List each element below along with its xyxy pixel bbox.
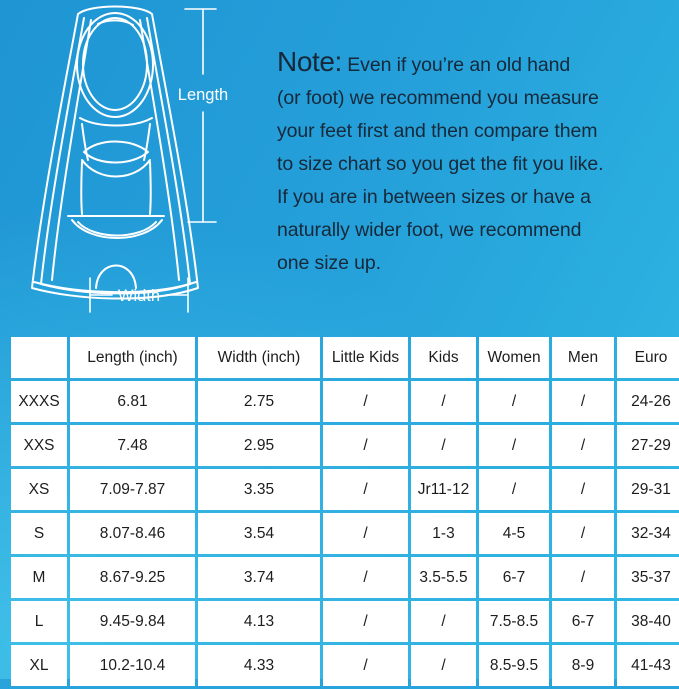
column-header-size	[11, 337, 67, 378]
note-line-6: naturally wider foot, we recommend	[277, 214, 667, 247]
fin-diagram: Length Width	[20, 0, 280, 325]
cell-value: /	[552, 425, 614, 466]
cell-value: 41-43	[617, 645, 679, 686]
cell-size-label: XL	[11, 645, 67, 686]
cell-value: 8.5-9.5	[479, 645, 549, 686]
cell-value: 27-29	[617, 425, 679, 466]
cell-size-label: L	[11, 601, 67, 642]
column-header-men: Men	[552, 337, 614, 378]
note-line-1-text: Even if you’re an old hand	[347, 54, 570, 76]
cell-size-label: M	[11, 557, 67, 598]
note-lead: Note:	[277, 46, 342, 77]
cell-value: 3.54	[198, 513, 320, 554]
note-line-3: your feet first and then compare them	[277, 115, 667, 148]
cell-value: 3.5-5.5	[411, 557, 476, 598]
cell-value: 4-5	[479, 513, 549, 554]
cell-value: /	[411, 425, 476, 466]
table-row: XXS7.482.95////27-29	[11, 425, 679, 466]
note-line-1: Note: Even if you’re an old hand	[277, 45, 667, 82]
table-row: XL10.2-10.44.33//8.5-9.58-941-43	[11, 645, 679, 686]
foot-pocket-opening	[77, 13, 153, 117]
foot-pocket-opening-inner	[83, 18, 147, 110]
column-header-women: Women	[479, 337, 549, 378]
cell-value: /	[411, 645, 476, 686]
cell-value: 3.74	[198, 557, 320, 598]
note-line-2: (or foot) we recommend you measure	[277, 82, 667, 115]
cell-value: /	[479, 425, 549, 466]
cell-value: Jr11-12	[411, 469, 476, 510]
cell-value: 6-7	[479, 557, 549, 598]
cell-value: 9.45-9.84	[70, 601, 195, 642]
fin-blade-inner	[41, 18, 190, 293]
cell-value: /	[323, 425, 408, 466]
cell-size-label: XS	[11, 469, 67, 510]
blade-bottom-edge	[34, 282, 196, 292]
cell-value: 4.13	[198, 601, 320, 642]
table-row: M8.67-9.253.74/3.5-5.56-7/35-37	[11, 557, 679, 598]
table-row: XS7.09-7.873.35/Jr11-12//29-31	[11, 469, 679, 510]
note-line-4: to size chart so you get the fit you lik…	[277, 148, 667, 181]
cell-value: /	[323, 469, 408, 510]
cell-value: /	[411, 601, 476, 642]
cell-size-label: S	[11, 513, 67, 554]
cell-value: /	[411, 381, 476, 422]
table-header-row: Length (inch)Width (inch)Little KidsKids…	[11, 337, 679, 378]
cell-value: 7.48	[70, 425, 195, 466]
cell-value: /	[323, 645, 408, 686]
cell-value: 8.67-9.25	[70, 557, 195, 598]
cell-value: /	[552, 381, 614, 422]
cell-value: 24-26	[617, 381, 679, 422]
cell-value: 7.5-8.5	[479, 601, 549, 642]
length-label: Length	[178, 86, 228, 104]
column-header-length-inch: Length (inch)	[70, 337, 195, 378]
cell-value: /	[479, 469, 549, 510]
table-row: XXXS6.812.75////24-26	[11, 381, 679, 422]
cell-value: /	[552, 557, 614, 598]
length-dimension	[185, 9, 216, 222]
blade-bottom-notch	[96, 266, 136, 289]
cell-value: /	[552, 513, 614, 554]
cell-value: 3.35	[198, 469, 320, 510]
column-header-width-inch: Width (inch)	[198, 337, 320, 378]
cell-value: /	[323, 601, 408, 642]
size-table-body: XXXS6.812.75////24-26XXS7.482.95////27-2…	[11, 381, 679, 686]
size-table-wrap: Length (inch)Width (inch)Little KidsKids…	[8, 334, 671, 689]
size-table: Length (inch)Width (inch)Little KidsKids…	[8, 334, 679, 689]
cell-value: 6.81	[70, 381, 195, 422]
note-block: Note: Even if you’re an old hand (or foo…	[277, 45, 667, 280]
cell-value: 10.2-10.4	[70, 645, 195, 686]
cell-value: /	[323, 381, 408, 422]
cell-value: 32-34	[617, 513, 679, 554]
cell-size-label: XXS	[11, 425, 67, 466]
instep-band-top	[80, 118, 152, 126]
note-line-5: If you are in between sizes or have a	[277, 181, 667, 214]
cell-value: 29-31	[617, 469, 679, 510]
cell-value: /	[552, 469, 614, 510]
cell-value: 4.33	[198, 645, 320, 686]
size-table-head: Length (inch)Width (inch)Little KidsKids…	[11, 337, 679, 378]
cell-value: /	[323, 513, 408, 554]
cell-value: 7.09-7.87	[70, 469, 195, 510]
table-row: L9.45-9.844.13//7.5-8.56-738-40	[11, 601, 679, 642]
column-header-little-kids: Little Kids	[323, 337, 408, 378]
cell-size-label: XXXS	[11, 381, 67, 422]
cell-value: 6-7	[552, 601, 614, 642]
cell-value: 2.95	[198, 425, 320, 466]
width-label: Width	[118, 287, 160, 305]
cell-value: 38-40	[617, 601, 679, 642]
table-row: S8.07-8.463.54/1-34-5/32-34	[11, 513, 679, 554]
illustration-and-note-area: Length Width Note: Even if you’re an old…	[0, 0, 679, 332]
cell-value: 2.75	[198, 381, 320, 422]
fin-blade-outer	[32, 7, 198, 299]
fin-outline-svg: Length Width	[20, 0, 280, 325]
arch-oval	[84, 142, 148, 163]
cell-value: 1-3	[411, 513, 476, 554]
column-header-euro: Euro	[617, 337, 679, 378]
cell-value: 8-9	[552, 645, 614, 686]
cell-value: 8.07-8.46	[70, 513, 195, 554]
column-header-kids: Kids	[411, 337, 476, 378]
cell-value: 35-37	[617, 557, 679, 598]
note-line-7: one size up.	[277, 247, 667, 280]
cell-value: /	[479, 381, 549, 422]
cell-value: /	[323, 557, 408, 598]
size-chart-page: Length Width Note: Even if you’re an old…	[0, 0, 679, 679]
